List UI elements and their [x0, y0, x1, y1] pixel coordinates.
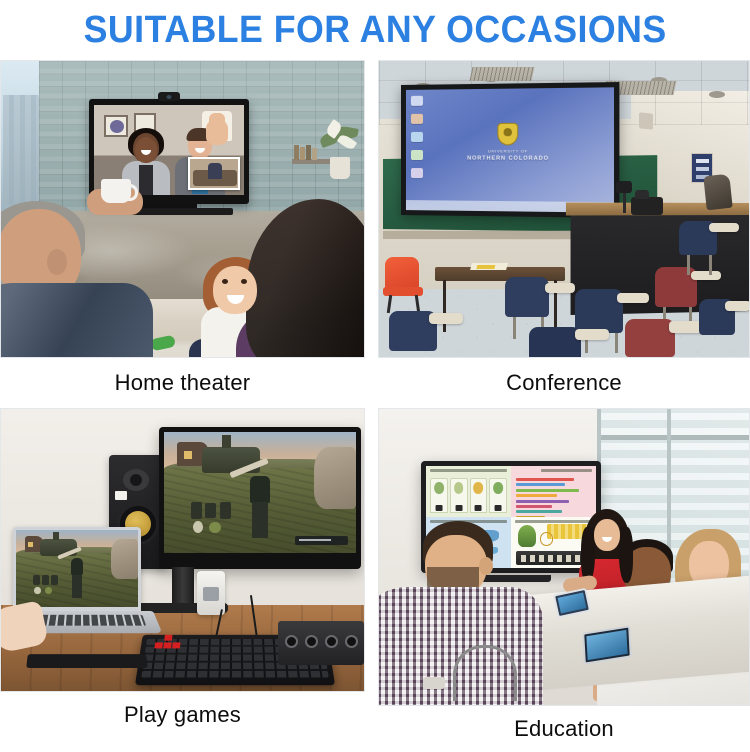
game-props: [191, 502, 233, 533]
tweeter: [123, 469, 149, 491]
papers-on-table: [470, 263, 508, 270]
student-desk: [625, 319, 709, 358]
game-rock: [314, 447, 356, 510]
desktop-icons: [411, 96, 431, 187]
bag: [703, 174, 732, 211]
university-line1: UNIVERSITY OF: [488, 148, 528, 153]
bar-chart-bar: [516, 489, 579, 492]
photo-education: [378, 408, 750, 706]
webcam-icon: [158, 92, 180, 101]
university-logo: UNIVERSITY OF NORTHERN COLORADO: [441, 122, 576, 163]
wasd-keys[interactable]: [154, 635, 181, 649]
bar-chart: [516, 478, 582, 509]
window-frame: [597, 435, 749, 440]
caption-education: Education: [378, 706, 750, 752]
air-vent: [470, 67, 535, 81]
header: SUITABLE FOR ANY OCCASIONS: [0, 0, 750, 60]
quadrant-plant-growth: [426, 466, 511, 517]
game-character: [245, 476, 276, 539]
caption-conference: Conference: [378, 358, 750, 408]
bar-chart-bar: [516, 500, 569, 503]
wall-speaker: [639, 112, 653, 129]
coffee-mug: [101, 179, 131, 203]
wristwatch: [423, 677, 445, 689]
student-desk: [699, 299, 750, 343]
monitor-stand: [172, 567, 194, 607]
bar-chart-bar: [516, 494, 557, 497]
crest-icon: [497, 123, 518, 146]
city-skyline: [3, 95, 43, 205]
laptop-screen: [13, 527, 141, 611]
panel-conference: UNIVERSITY OF NORTHERN COLORADO: [378, 60, 750, 408]
document-camera: [619, 181, 629, 211]
bar-chart-bar: [516, 478, 574, 481]
lily-plant: [320, 123, 360, 179]
university-name: UNIVERSITY OF NORTHERN COLORADO: [441, 148, 576, 163]
panel-home-theater: Home theater: [0, 60, 365, 408]
panel-play-games: Play games: [0, 408, 365, 752]
bar-chart-bar: [516, 483, 565, 486]
waving-hand: [206, 119, 228, 145]
page-title: SUITABLE FOR ANY OCCASIONS: [83, 11, 666, 49]
student-desk: [389, 311, 463, 358]
student-desk: [679, 221, 737, 275]
speaker-badge: [115, 491, 127, 500]
mouse-pad: [26, 654, 148, 668]
photo-play-games: [0, 408, 365, 692]
av-equipment: [631, 197, 663, 215]
bar-chart-bar: [516, 510, 562, 513]
office-chair: [453, 645, 517, 701]
photo-home-theater: [0, 60, 365, 358]
adult-male-viewer: [0, 209, 139, 358]
orange-chair: [383, 257, 423, 313]
game-hud: [295, 536, 349, 544]
bar-chart-bar: [516, 505, 552, 508]
caption-home-theater: Home theater: [0, 358, 365, 408]
monitor-screen: [164, 432, 356, 553]
external-monitor: [159, 427, 361, 569]
panel-education: Education: [378, 408, 750, 752]
ceiling-light-icon: [709, 91, 725, 98]
caption-play-games: Play games: [0, 692, 365, 738]
occasions-grid: Home theater UNIVERSI: [0, 60, 750, 752]
photo-conference: UNIVERSITY OF NORTHERN COLORADO: [378, 60, 750, 358]
student-desk: [529, 327, 609, 358]
projection-screen: UNIVERSITY OF NORTHERN COLORADO: [401, 82, 619, 218]
laptop-game-mirror: [16, 530, 138, 607]
audio-interface[interactable]: [278, 621, 364, 665]
university-line2: NORTHERN COLORADO: [441, 154, 576, 163]
projected-desktop: UNIVERSITY OF NORTHERN COLORADO: [406, 87, 614, 212]
picture-in-picture-thumbnail: [188, 157, 240, 190]
